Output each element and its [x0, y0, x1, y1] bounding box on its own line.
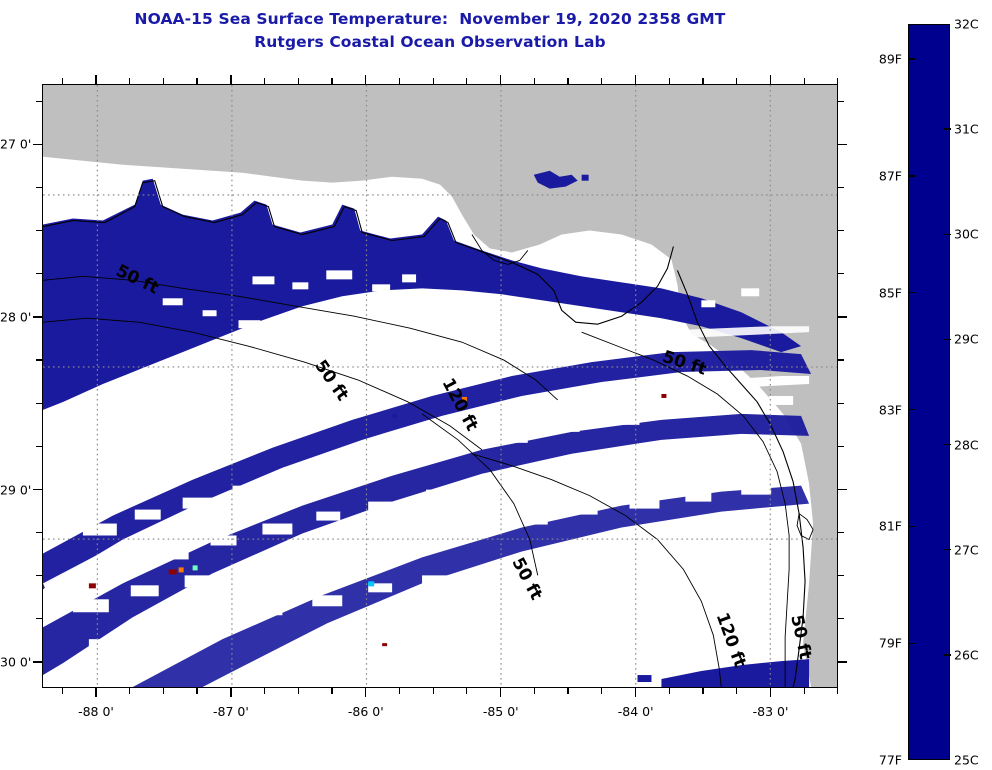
colorbar-label-celsius: 27C	[954, 542, 979, 557]
x-axis-label: -86 0'	[348, 704, 384, 719]
x-minor-tick-top	[702, 78, 703, 84]
x-minor-tick-top	[399, 78, 400, 84]
colorbar-label-fahrenheit: 89F	[856, 52, 902, 67]
y-minor-tick-right	[838, 446, 844, 447]
colorbar-label-celsius: 28C	[954, 437, 979, 452]
x-minor-tick	[669, 688, 670, 694]
x-minor-tick	[837, 688, 838, 694]
colorbar-label-fahrenheit: 85F	[856, 285, 902, 300]
colorbar-label-fahrenheit: 77F	[856, 753, 902, 768]
colorbar-tick-f	[908, 643, 915, 644]
x-minor-tick	[129, 688, 130, 694]
x-minor-tick	[804, 688, 805, 694]
x-minor-tick	[62, 688, 63, 694]
y-major-tick	[33, 661, 42, 662]
x-minor-tick	[196, 688, 197, 694]
y-major-tick	[33, 489, 42, 490]
x-minor-tick	[702, 688, 703, 694]
x-minor-tick	[466, 688, 467, 694]
colorbar-label-fahrenheit: 79F	[856, 636, 902, 651]
x-minor-tick-top	[466, 78, 467, 84]
x-minor-tick-top	[264, 78, 265, 84]
x-major-tick-top	[230, 75, 231, 84]
x-minor-tick	[298, 688, 299, 694]
x-major-tick	[365, 688, 366, 697]
colorbar-tick-c	[944, 444, 951, 445]
x-minor-tick-top	[62, 78, 63, 84]
y-minor-tick-right	[838, 532, 844, 533]
x-axis-label: -83 0'	[753, 704, 789, 719]
x-major-tick	[500, 688, 501, 697]
x-minor-tick-top	[298, 78, 299, 84]
x-minor-tick-top	[433, 78, 434, 84]
y-minor-tick	[36, 187, 42, 188]
y-minor-tick	[36, 446, 42, 447]
y-minor-tick-right	[838, 403, 844, 404]
colorbar-tick-f	[908, 292, 915, 293]
y-minor-tick	[36, 575, 42, 576]
x-major-tick-top	[635, 75, 636, 84]
x-major-tick-top	[95, 75, 96, 84]
inland-lake-small	[582, 175, 589, 181]
x-minor-tick-top	[163, 78, 164, 84]
y-major-tick	[33, 316, 42, 317]
x-minor-tick-top	[129, 78, 130, 84]
x-minor-tick-top	[669, 78, 670, 84]
y-minor-tick	[36, 101, 42, 102]
colorbar-tick-c	[944, 549, 951, 550]
x-minor-tick-top	[804, 78, 805, 84]
y-minor-tick-right	[838, 187, 844, 188]
y-axis-label: 29 0'	[0, 482, 29, 497]
x-axis-label: -84 0'	[618, 704, 654, 719]
colorbar-tick-c	[944, 654, 951, 655]
colorbar-tick-c	[944, 234, 951, 235]
x-major-tick-top	[500, 75, 501, 84]
x-major-tick	[635, 688, 636, 697]
colorbar[interactable]: 25C26C27C28C29C30C31C32C77F79F81F83F85F8…	[908, 24, 950, 760]
x-minor-tick	[534, 688, 535, 694]
x-major-tick	[230, 688, 231, 697]
colorbar-label-fahrenheit: 83F	[856, 402, 902, 417]
x-minor-tick	[736, 688, 737, 694]
y-major-tick-right	[838, 661, 847, 662]
colorbar-label-celsius: 25C	[954, 753, 979, 768]
colorbar-label-celsius: 31C	[954, 122, 979, 137]
y-minor-tick	[36, 230, 42, 231]
y-major-tick-right	[838, 316, 847, 317]
y-axis-label: 27 0'	[0, 137, 29, 152]
colorbar-tick-f	[908, 409, 915, 410]
chart-title-block: NOAA-15 Sea Surface Temperature: Novembe…	[0, 8, 860, 54]
x-axis-label: -87 0'	[213, 704, 249, 719]
y-minor-tick	[36, 618, 42, 619]
colorbar-label-celsius: 32C	[954, 17, 979, 32]
y-major-tick	[33, 144, 42, 145]
y-minor-tick-right	[838, 575, 844, 576]
y-major-tick-right	[838, 144, 847, 145]
x-minor-tick-top	[331, 78, 332, 84]
x-minor-tick-top	[567, 78, 568, 84]
x-axis-label: -88 0'	[78, 704, 114, 719]
colorbar-tick-c	[944, 128, 951, 129]
sst-map-canvas: 50 ft50 ft120 ft50 ft50 ft120 ft50 ft	[43, 85, 837, 687]
x-major-tick	[770, 688, 771, 697]
y-major-tick-right	[838, 489, 847, 490]
x-minor-tick-top	[736, 78, 737, 84]
colorbar-tick-f	[908, 175, 915, 176]
x-major-tick	[95, 688, 96, 697]
y-minor-tick	[36, 532, 42, 533]
page-title: NOAA-15 Sea Surface Temperature: Novembe…	[0, 8, 860, 31]
y-minor-tick-right	[838, 230, 844, 231]
y-minor-tick-right	[838, 273, 844, 274]
x-minor-tick	[264, 688, 265, 694]
x-minor-tick-top	[196, 78, 197, 84]
x-minor-tick	[163, 688, 164, 694]
x-major-tick-top	[365, 75, 366, 84]
colorbar-tick-c	[944, 339, 951, 340]
colorbar-label-fahrenheit: 87F	[856, 168, 902, 183]
page-subtitle: Rutgers Coastal Ocean Observation Lab	[0, 31, 860, 54]
x-minor-tick	[331, 688, 332, 694]
x-minor-tick	[567, 688, 568, 694]
x-minor-tick	[601, 688, 602, 694]
colorbar-label-fahrenheit: 81F	[856, 519, 902, 534]
y-axis-label: 30 0'	[0, 655, 29, 670]
colorbar-label-celsius: 29C	[954, 332, 979, 347]
y-minor-tick-right	[838, 618, 844, 619]
y-minor-tick-right	[838, 101, 844, 102]
x-minor-tick	[399, 688, 400, 694]
x-minor-tick-top	[534, 78, 535, 84]
y-minor-tick	[36, 359, 42, 360]
x-minor-tick-top	[601, 78, 602, 84]
sst-map-plot[interactable]: 50 ft50 ft120 ft50 ft50 ft120 ft50 ft	[42, 84, 838, 688]
y-minor-tick	[36, 403, 42, 404]
colorbar-tick-f	[908, 58, 915, 59]
y-minor-tick-right	[838, 359, 844, 360]
colorbar-tick-f	[908, 526, 915, 527]
colorbar-label-celsius: 26C	[954, 647, 979, 662]
x-axis-label: -85 0'	[483, 704, 519, 719]
colorbar-label-celsius: 30C	[954, 227, 979, 242]
colorbar-gradient	[908, 24, 950, 760]
y-axis-label: 28 0'	[0, 309, 29, 324]
y-minor-tick	[36, 273, 42, 274]
x-minor-tick-top	[837, 78, 838, 84]
x-minor-tick	[433, 688, 434, 694]
x-major-tick-top	[770, 75, 771, 84]
